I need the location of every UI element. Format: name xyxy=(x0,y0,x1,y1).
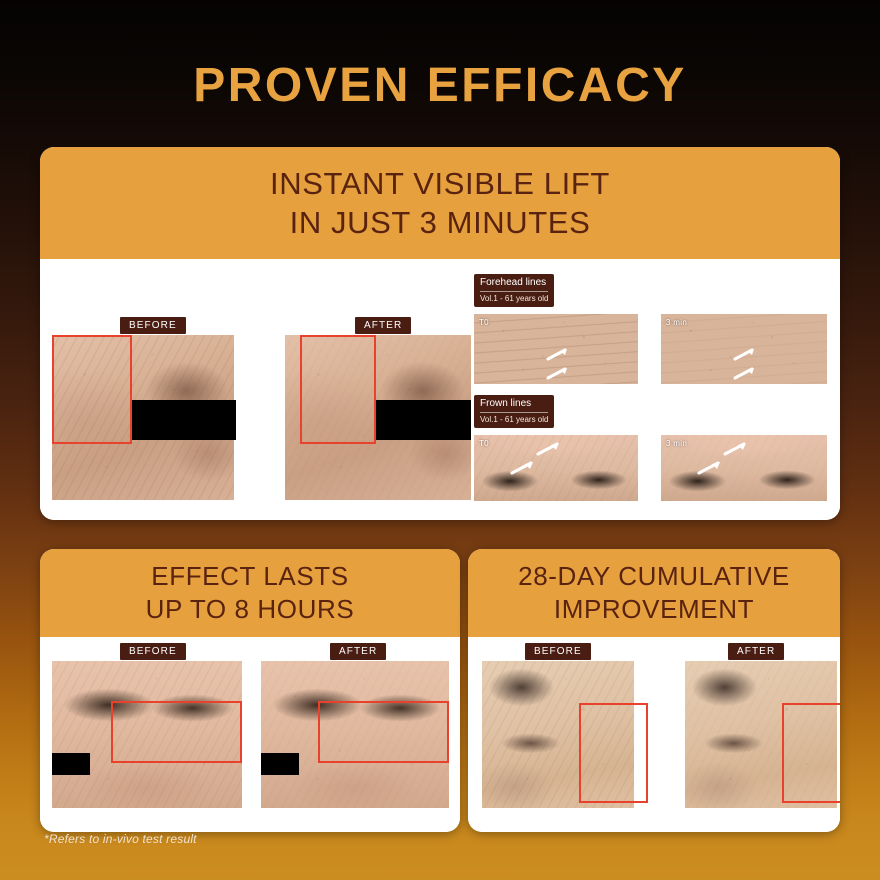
photo-before-eyelid xyxy=(482,661,634,808)
photo-forehead-3min: 3 min xyxy=(661,314,827,384)
badge-after-effect-lasts: AFTER xyxy=(330,643,386,660)
annotation-arrow-icon xyxy=(536,441,562,456)
timepoint-tag-forehead-t0: T0 xyxy=(479,318,489,327)
panel-effect-lasts-header: EFFECT LASTS UP TO 8 HOURS xyxy=(40,549,460,637)
panel-effect-lasts-body: BEFORE AFTER xyxy=(40,637,460,832)
study-label-frown: Frown lines Vol.1 - 61 years old xyxy=(474,395,554,428)
annotation-arrow-icon xyxy=(723,441,749,456)
study-name-forehead: Forehead lines xyxy=(480,277,548,292)
badge-before-28-day: BEFORE xyxy=(525,643,591,660)
badge-after-28-day: AFTER xyxy=(728,643,784,660)
timepoint-tag-frown-t0: T0 xyxy=(479,439,489,448)
skin-specks xyxy=(482,661,634,808)
privacy-bar-after-effect-lasts xyxy=(261,753,299,775)
page-title: PROVEN EFFICACY xyxy=(0,58,880,113)
panel-28-day: 28-DAY CUMULATIVE IMPROVEMENT BEFORE AFT… xyxy=(468,549,840,832)
privacy-bar-before-top xyxy=(132,400,236,440)
infographic-page: PROVEN EFFICACY INSTANT VISIBLE LIFT IN … xyxy=(0,0,880,880)
annotation-arrow-icon xyxy=(733,347,757,361)
photo-frown-3min: 3 min xyxy=(661,435,827,501)
panel-instant-lift-heading-line1: INSTANT VISIBLE LIFT xyxy=(270,164,610,203)
panel-28-day-header: 28-DAY CUMULATIVE IMPROVEMENT xyxy=(468,549,840,637)
study-label-forehead: Forehead lines Vol.1 - 61 years old xyxy=(474,274,554,307)
photo-after-eye-area xyxy=(261,661,449,808)
annotation-arrow-icon xyxy=(546,347,570,361)
panel-instant-lift-heading-line2: IN JUST 3 MINUTES xyxy=(290,203,591,242)
annotation-arrow-icon xyxy=(546,366,570,380)
photo-forehead-t0: T0 xyxy=(474,314,638,384)
panel-effect-lasts-heading-line2: UP TO 8 HOURS xyxy=(146,593,355,626)
skin-specks xyxy=(52,661,242,808)
footnote: *Refers to in-vivo test result xyxy=(44,832,197,846)
badge-before-effect-lasts: BEFORE xyxy=(120,643,186,660)
study-subject-frown: Vol.1 - 61 years old xyxy=(480,415,548,424)
privacy-bar-after-top xyxy=(376,400,471,440)
badge-before-top: BEFORE xyxy=(120,317,186,334)
panel-28-day-heading-line1: 28-DAY CUMULATIVE xyxy=(518,560,790,593)
study-subject-forehead: Vol.1 - 61 years old xyxy=(480,294,548,303)
panel-effect-lasts-heading-line1: EFFECT LASTS xyxy=(151,560,348,593)
panel-effect-lasts: EFFECT LASTS UP TO 8 HOURS BEFORE AFTER xyxy=(40,549,460,832)
timepoint-tag-forehead-3min: 3 min xyxy=(666,318,687,327)
annotation-arrow-icon xyxy=(510,460,536,475)
skin-specks xyxy=(685,661,837,808)
privacy-bar-before-effect-lasts xyxy=(52,753,90,775)
photo-frown-t0: T0 xyxy=(474,435,638,501)
panel-28-day-body: BEFORE AFTER xyxy=(468,637,840,832)
photo-after-eyelid xyxy=(685,661,837,808)
skin-specks xyxy=(261,661,449,808)
panel-instant-lift-body: BEFORE AFTER Forehead lines Vol.1 - 61 y… xyxy=(40,259,840,520)
annotation-arrow-icon xyxy=(697,460,723,475)
panel-instant-lift-header: INSTANT VISIBLE LIFT IN JUST 3 MINUTES xyxy=(40,147,840,259)
timepoint-tag-frown-3min: 3 min xyxy=(666,439,687,448)
panel-28-day-heading-line2: IMPROVEMENT xyxy=(554,593,754,626)
study-name-frown: Frown lines xyxy=(480,398,548,413)
photo-before-eye-area xyxy=(52,661,242,808)
badge-after-top: AFTER xyxy=(355,317,411,334)
annotation-arrow-icon xyxy=(733,366,757,380)
panel-instant-lift: INSTANT VISIBLE LIFT IN JUST 3 MINUTES B… xyxy=(40,147,840,520)
